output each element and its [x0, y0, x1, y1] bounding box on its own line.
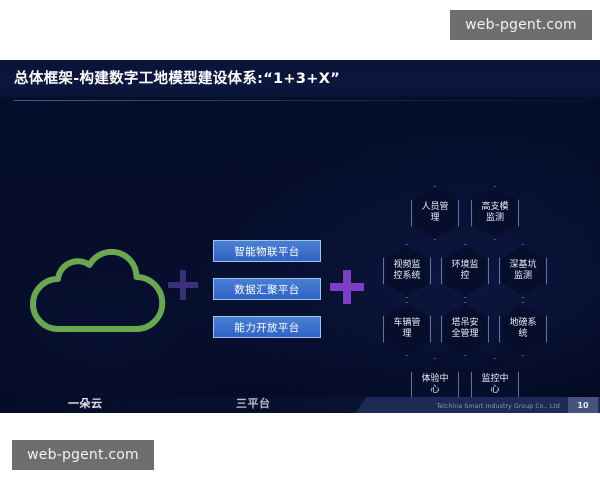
scene-hex-personnel[interactable]: 人员管理: [411, 186, 459, 240]
scene-hexagon-cluster: 人员管理 高支模监测 视频监控系统 环境监控 深基坑监测 车辆管理 塔吊安全管理…: [383, 186, 583, 386]
scene-hex-environment[interactable]: 环境监控: [441, 244, 489, 298]
plus-icon-two: [330, 270, 364, 304]
scene-hex-foundation-pit[interactable]: 深基坑监测: [499, 244, 547, 298]
page-number-badge: 10: [568, 397, 598, 413]
plus-icon-one: [168, 270, 198, 300]
platform-button-iot[interactable]: 智能物联平台: [213, 240, 321, 262]
scene-hex-vehicle[interactable]: 车辆管理: [383, 302, 431, 356]
title-divider: [14, 100, 586, 101]
platform-button-capability[interactable]: 能力开放平台: [213, 316, 321, 338]
platform-button-data[interactable]: 数据汇聚平台: [213, 278, 321, 300]
slide-footer: Telchina Smart Industry Group Co., Ltd 1…: [0, 397, 600, 413]
watermark-bottom: web-pgent.com: [12, 440, 154, 470]
scene-hex-formwork[interactable]: 高支模监测: [471, 186, 519, 240]
presentation-slide: 总体框架-构建数字工地模型建设体系:“1+3+X” 一朵云 智能物联平台 数据汇…: [0, 60, 600, 413]
scene-hex-crane-safety[interactable]: 塔吊安全管理: [441, 302, 489, 356]
cloud-outline-icon: [28, 245, 168, 337]
watermark-top: web-pgent.com: [450, 10, 592, 40]
footer-company-name: Telchina Smart Industry Group Co., Ltd: [436, 403, 560, 410]
scene-hex-weighbridge[interactable]: 地磅系统: [499, 302, 547, 356]
platform-button-group: 智能物联平台 数据汇聚平台 能力开放平台: [213, 240, 321, 338]
scene-hex-video[interactable]: 视频监控系统: [383, 244, 431, 298]
slide-title: 总体框架-构建数字工地模型建设体系:“1+3+X”: [14, 67, 340, 88]
